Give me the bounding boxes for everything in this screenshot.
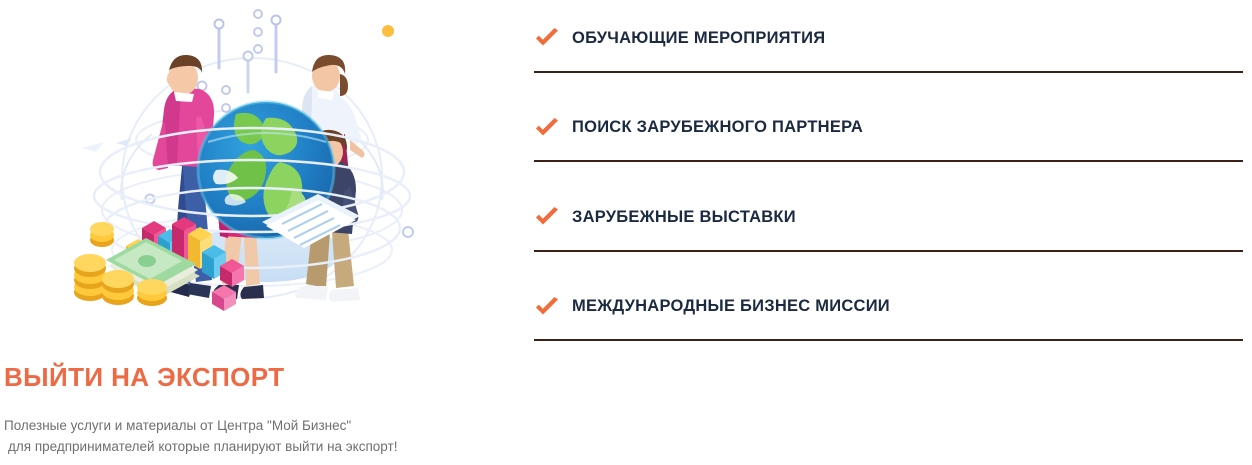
check-icon <box>534 27 560 49</box>
benefit-row: ЗАРУБЕЖНЫЕ ВЫСТАВКИ <box>534 203 796 231</box>
promo-description-line-2: для предпринимателей которые планируют в… <box>4 439 397 454</box>
divider <box>534 71 1243 73</box>
promo-banner: ВЫЙТИ НА ЭКСПОРТ Полезные услуги и матер… <box>0 0 1252 465</box>
list-item-label: МЕЖДУНАРОДНЫЕ БИЗНЕС МИССИИ <box>572 297 890 316</box>
page-title: ВЫЙТИ НА ЭКСПОРТ <box>4 362 284 393</box>
list-item[interactable]: ОБУЧАЮЩИЕ МЕРОПРИЯТИЯ <box>534 0 1244 90</box>
benefits-list: ОБУЧАЮЩИЕ МЕРОПРИЯТИЯ ПОИСК ЗАРУБЕЖНОГО … <box>534 0 1244 360</box>
divider <box>534 339 1243 341</box>
global-business-illustration <box>30 0 470 355</box>
divider <box>534 160 1243 162</box>
list-item-label: ПОИСК ЗАРУБЕЖНОГО ПАРТНЕРА <box>572 118 863 137</box>
benefit-row: МЕЖДУНАРОДНЫЕ БИЗНЕС МИССИИ <box>534 293 890 321</box>
check-icon <box>534 206 560 228</box>
benefit-row: ПОИСК ЗАРУБЕЖНОГО ПАРТНЕРА <box>534 114 863 142</box>
benefit-row: ОБУЧАЮЩИЕ МЕРОПРИЯТИЯ <box>534 24 825 52</box>
promo-description: Полезные услуги и материалы от Центра "М… <box>4 415 474 457</box>
divider <box>534 250 1243 252</box>
check-icon <box>534 296 560 318</box>
list-item-label: ОБУЧАЮЩИЕ МЕРОПРИЯТИЯ <box>572 29 825 48</box>
sun-dot <box>382 25 394 37</box>
promo-description-line-1: Полезные услуги и материалы от Центра "М… <box>4 418 351 433</box>
list-item[interactable]: МЕЖДУНАРОДНЫЕ БИЗНЕС МИССИИ <box>534 269 1244 359</box>
list-item-label: ЗАРУБЕЖНЫЕ ВЫСТАВКИ <box>572 208 796 227</box>
list-item[interactable]: ПОИСК ЗАРУБЕЖНОГО ПАРТНЕРА <box>534 90 1244 180</box>
list-item[interactable]: ЗАРУБЕЖНЫЕ ВЫСТАВКИ <box>534 179 1244 269</box>
promo-left-column: ВЫЙТИ НА ЭКСПОРТ Полезные услуги и матер… <box>0 0 500 465</box>
check-icon <box>534 117 560 139</box>
